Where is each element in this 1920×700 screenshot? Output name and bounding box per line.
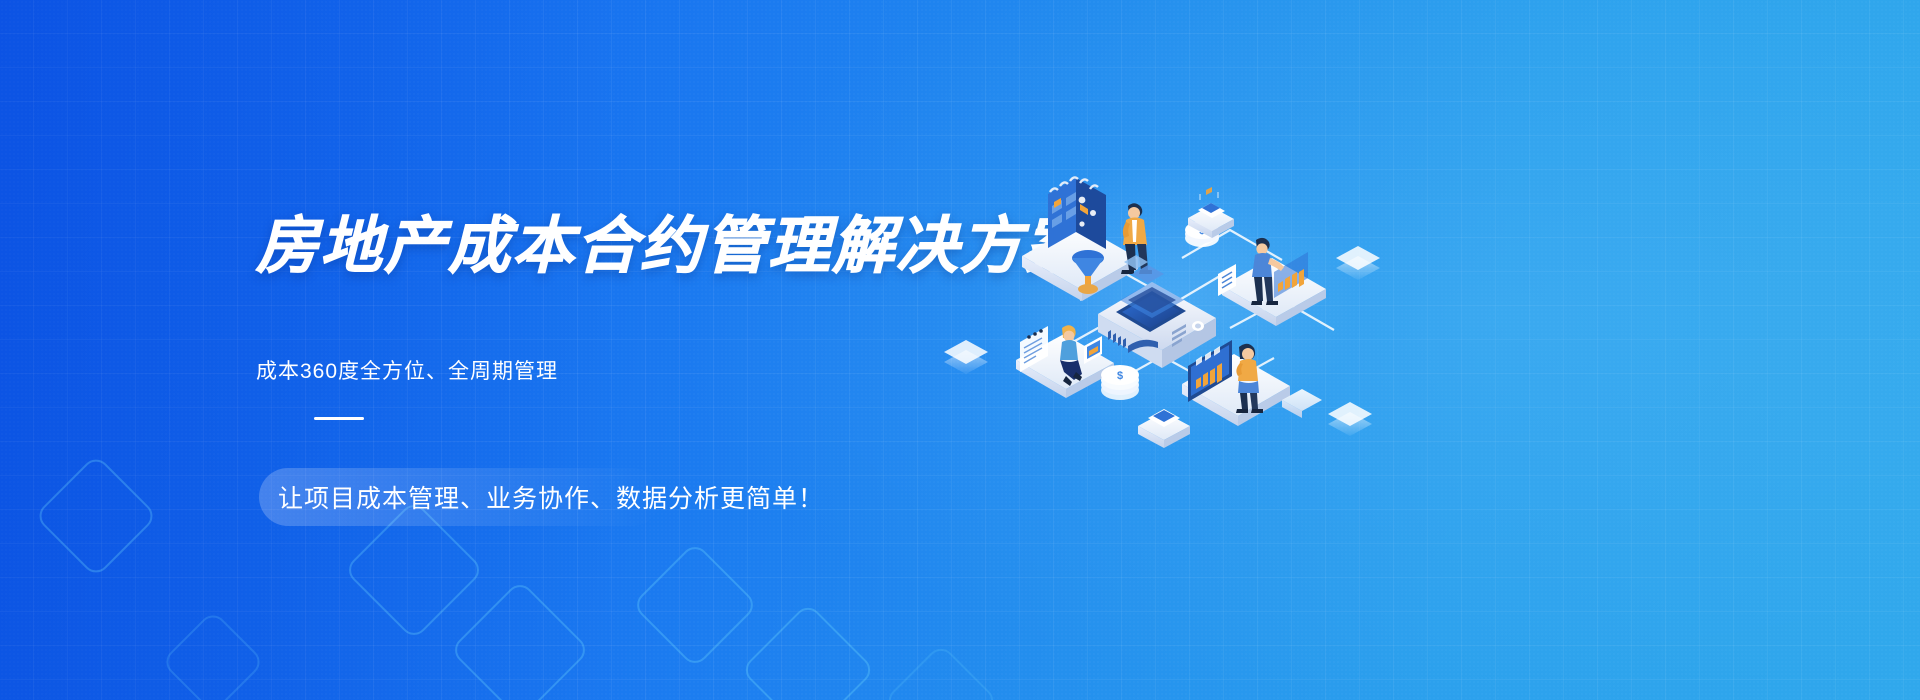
tagline-text: 让项目成本管理、业务协作、数据分析更简单！	[278, 479, 824, 515]
hero-banner: 房地产成本合约管理解决方案 成本360度全方位、全周期管理 让项目成本管理、业务…	[0, 0, 1920, 700]
svg-text:$: $	[1117, 370, 1123, 382]
divider-rule	[314, 417, 364, 420]
hero-text-block: 房地产成本合约管理解决方案 成本360度全方位、全周期管理 让项目成本管理、业务…	[256, 0, 1016, 700]
page-subtitle: 成本360度全方位、全周期管理	[256, 355, 558, 385]
isometric-illustration: $	[930, 150, 1400, 450]
